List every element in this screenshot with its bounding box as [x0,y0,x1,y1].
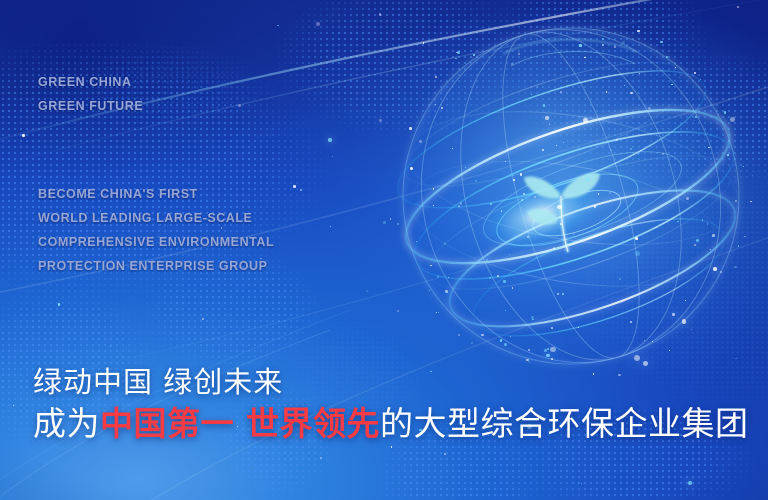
english-mission-line: BECOME CHINA'S FIRST [38,182,274,206]
english-mission-statement: BECOME CHINA'S FIRST WORLD LEADING LARGE… [38,182,274,278]
chinese-headline-highlight: 中国第一 世界领先 [100,404,380,443]
english-mission-line: PROTECTION ENTERPRISE GROUP [38,254,274,278]
english-tagline-line: GREEN FUTURE [38,94,143,118]
chinese-headline: 绿动中国 绿创未来 成为中国第一 世界领先的大型综合环保企业集团 [33,362,749,446]
chinese-headline-prefix: 成为 [33,404,100,443]
chinese-headline-suffix: 的大型综合环保企业集团 [380,404,749,443]
english-mission-line: WORLD LEADING LARGE-SCALE [38,206,274,230]
chinese-headline-line2: 成为中国第一 世界领先的大型综合环保企业集团 [33,402,749,446]
banner-canvas: GREEN CHINA GREEN FUTURE BECOME CHINA'S … [0,0,768,500]
english-mission-line: COMPREHENSIVE ENVIRONMENTAL [38,230,274,254]
english-tagline-top: GREEN CHINA GREEN FUTURE [38,70,143,118]
english-tagline-line: GREEN CHINA [38,70,143,94]
sprout-seedling-icon [512,160,608,270]
chinese-headline-line1: 绿动中国 绿创未来 [33,362,749,402]
